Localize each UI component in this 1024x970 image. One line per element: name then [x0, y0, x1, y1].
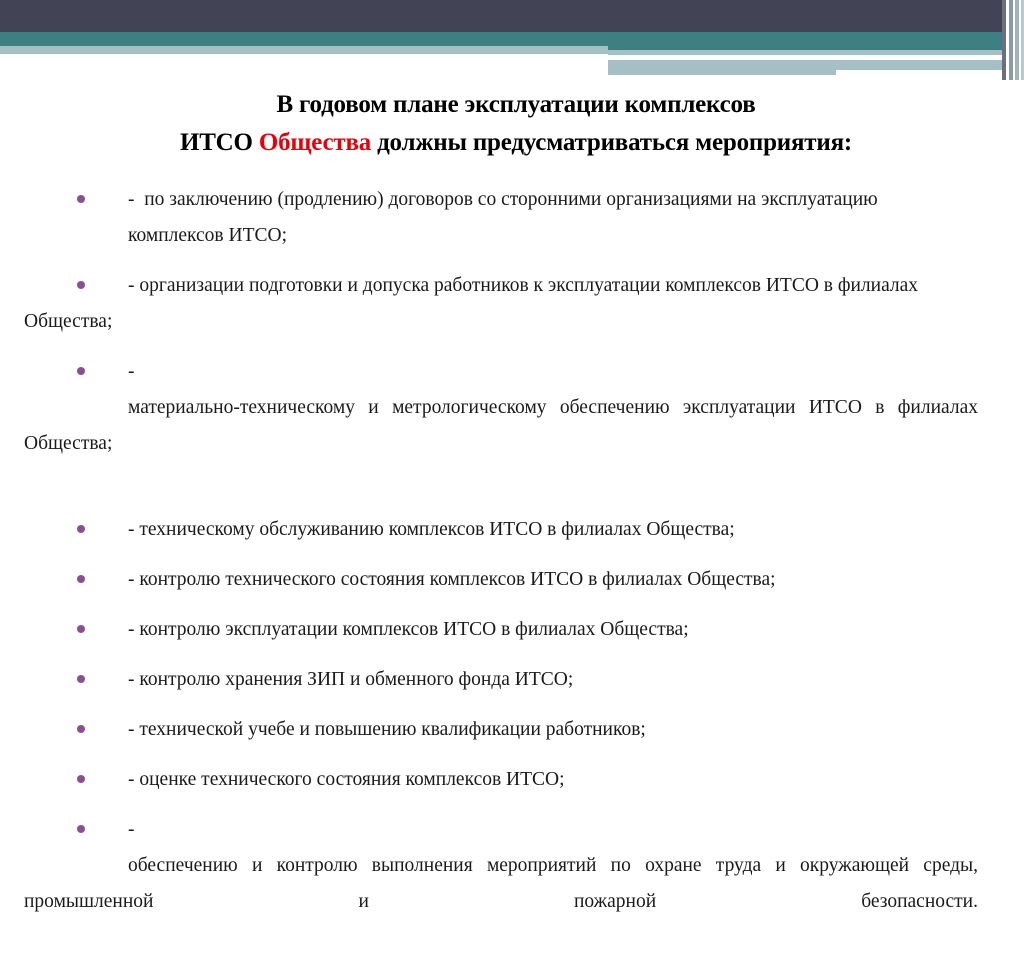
slide-title-line-1: В годовом плане эксплуатации комплексов [96, 86, 936, 124]
slide-title-line-2-prefix: ИТСО [180, 129, 259, 156]
header-band-light-left [0, 46, 608, 54]
bullet-marker-icon [77, 281, 85, 289]
bullet-item: - обеспечению и контролю выполнения меро… [0, 812, 1024, 956]
bullet-marker-icon [77, 725, 85, 733]
bullet-dash: - [128, 275, 139, 296]
bullet-marker-icon [77, 575, 85, 583]
header-band-dark [0, 0, 1002, 32]
bullet-dash: - [128, 719, 139, 740]
bullet-item: - контролю хранения ЗИП и обменного фонд… [0, 662, 1024, 698]
bullet-item: - оценке технического состояния комплекс… [0, 762, 1024, 798]
bullet-marker-icon [77, 675, 85, 683]
slide-title-line-1-text: В годовом плане эксплуатации комплексов [276, 91, 755, 118]
bullet-list: - по заключению (продлению) договоров со… [0, 182, 1024, 970]
bullet-item: - материально-техническому и метрологиче… [0, 354, 1024, 498]
bullet-marker-icon [77, 525, 85, 533]
slide-title-accent-word: Общества [259, 129, 371, 156]
bullet-text: технической учебе и повышению квалификац… [139, 719, 645, 740]
bullet-item: - контролю эксплуатации комплексов ИТСО … [0, 612, 1024, 648]
bullet-dash: - [128, 361, 139, 382]
header-band-light-right-2 [608, 60, 1002, 70]
bullet-text: оценке технического состояния комплексов… [139, 769, 564, 790]
bullet-dash: - [128, 569, 139, 590]
bullet-item: - контролю технического состояния компле… [0, 562, 1024, 598]
bullet-dash: - [128, 519, 139, 540]
bullet-marker-icon [77, 775, 85, 783]
header-band-teal-right [608, 32, 1002, 50]
bullet-item: - организации подготовки и допуска работ… [0, 268, 1024, 340]
bullet-dash: - [128, 189, 144, 210]
bullet-text: материально-техническому и метрологическ… [24, 390, 978, 498]
bullet-dash: - [128, 619, 139, 640]
header-band-light-right-3 [608, 70, 836, 75]
bullet-text: контролю технического состояния комплекс… [139, 569, 775, 590]
bullet-item: - по заключению (продлению) договоров со… [0, 182, 1024, 254]
bullet-marker-icon [77, 367, 85, 375]
bullet-text: контролю хранения ЗИП и обменного фонда … [139, 669, 573, 690]
slide-title-line-2-suffix: должны предусматриваться мероприятия: [371, 129, 852, 156]
bullet-text: организации подготовки и допуска работни… [24, 275, 918, 332]
bullet-dash: - [128, 819, 139, 840]
bullet-item: - технической учебе и повышению квалифик… [0, 712, 1024, 748]
bullet-marker-icon [77, 625, 85, 633]
slide-title: В годовом плане эксплуатации комплексов … [96, 86, 936, 162]
header-decoration-banner [0, 0, 1024, 80]
bullet-marker-icon [77, 825, 85, 833]
bullet-dash: - [128, 769, 139, 790]
bullet-item: - техническому обслуживанию комплексов И… [0, 512, 1024, 548]
bullet-dash: - [128, 669, 139, 690]
bullet-text: по заключению (продлению) договоров со с… [128, 189, 878, 246]
bullet-text: обеспечению и контролю выполнения меропр… [24, 848, 978, 956]
bullet-text: техническому обслуживанию комплексов ИТС… [139, 519, 734, 540]
slide-title-line-2: ИТСО Общества должны предусматриваться м… [96, 124, 936, 162]
bullet-text: контролю эксплуатации комплексов ИТСО в … [139, 619, 688, 640]
header-band-right-white [836, 70, 1002, 75]
bullet-marker-icon [77, 195, 85, 203]
